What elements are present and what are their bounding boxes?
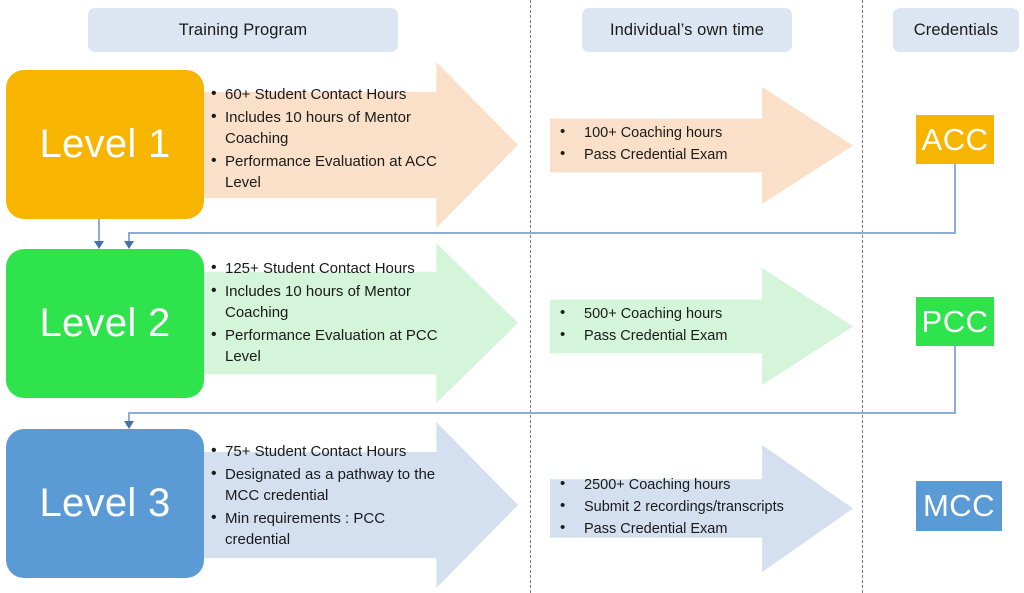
credential-badge-mcc: MCC: [916, 481, 1002, 531]
column-header-training-program: Training Program: [88, 8, 398, 52]
training-bullets-level-3: 75+ Student Contact Hours Designated as …: [210, 441, 438, 552]
list-item: Pass Credential Exam: [556, 518, 821, 540]
connector-arrowhead-acc-to-level2: [124, 241, 134, 249]
list-item: Performance Evaluation at ACC Level: [210, 151, 438, 193]
list-item: 500+ Coaching hours: [556, 303, 821, 325]
credential-badge-acc: ACC: [916, 115, 994, 164]
own-time-bullets-level-1: 100+ Coaching hours Pass Credential Exam: [556, 122, 821, 166]
diagram-canvas: Training Program Individual’s own time C…: [0, 0, 1024, 593]
list-item: Includes 10 hours of Mentor Coaching: [210, 107, 438, 149]
training-bullets-level-1: 60+ Student Contact Hours Includes 10 ho…: [210, 84, 438, 195]
connector-arrowhead-pcc-to-level3: [124, 421, 134, 429]
list-item: Includes 10 hours of Mentor Coaching: [210, 281, 438, 323]
list-item: Min requirements : PCC credential: [210, 508, 438, 550]
level-box-level-3: Level 3: [6, 429, 204, 578]
connector-pcc-horizontal: [128, 412, 956, 414]
connector-acc-vertical: [954, 164, 956, 233]
list-item: Designated as a pathway to the MCC crede…: [210, 464, 438, 506]
list-item: 75+ Student Contact Hours: [210, 441, 438, 462]
list-item: Pass Credential Exam: [556, 325, 821, 347]
list-item: Performance Evaluation at PCC Level: [210, 325, 438, 367]
own-time-bullets-level-3: 2500+ Coaching hours Submit 2 recordings…: [556, 474, 821, 540]
list-item: 60+ Student Contact Hours: [210, 84, 438, 105]
list-item: Submit 2 recordings/transcripts: [556, 496, 821, 518]
credential-badge-pcc: PCC: [916, 297, 994, 346]
list-item: 100+ Coaching hours: [556, 122, 821, 144]
training-bullets-level-2: 125+ Student Contact Hours Includes 10 h…: [210, 258, 438, 369]
column-divider-individual-credentials: [862, 0, 863, 593]
list-item: 125+ Student Contact Hours: [210, 258, 438, 279]
level-box-level-1: Level 1: [6, 70, 204, 219]
column-divider-training-individual: [530, 0, 531, 593]
connector-acc-horizontal: [128, 232, 956, 234]
level-box-level-2: Level 2: [6, 249, 204, 398]
list-item: 2500+ Coaching hours: [556, 474, 821, 496]
own-time-bullets-level-2: 500+ Coaching hours Pass Credential Exam: [556, 303, 821, 347]
list-item: Pass Credential Exam: [556, 144, 821, 166]
column-header-individual-own-time: Individual’s own time: [582, 8, 792, 52]
column-header-credentials: Credentials: [893, 8, 1019, 52]
connector-arrowhead-level1-to-level2: [94, 241, 104, 249]
connector-pcc-vertical: [954, 346, 956, 413]
